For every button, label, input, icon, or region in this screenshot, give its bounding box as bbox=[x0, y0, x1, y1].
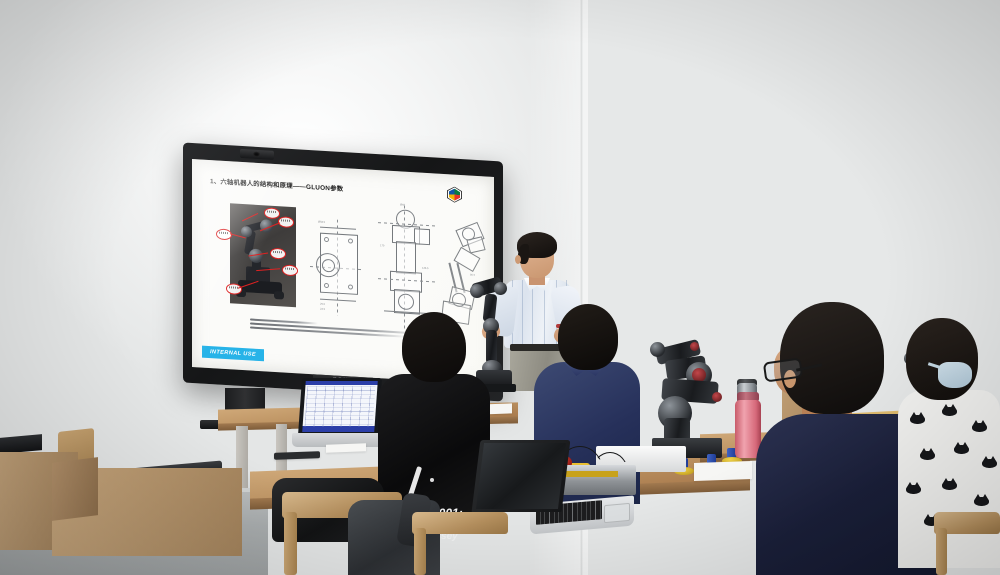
camera-module-icon bbox=[240, 149, 274, 160]
chair-wooden[interactable] bbox=[934, 512, 1000, 575]
cardboard-box-flap bbox=[52, 457, 98, 521]
slide-title: 1、六轴机器人的结构和原理——GLUON参数 bbox=[210, 176, 460, 200]
internal-use-badge: INTERNAL USE bbox=[202, 346, 264, 362]
slide-callout bbox=[264, 207, 280, 219]
slide-callout bbox=[226, 283, 242, 295]
company-hex-logo bbox=[447, 186, 462, 203]
attendee-head bbox=[558, 304, 618, 370]
slide-callout bbox=[270, 248, 286, 260]
classroom-scene: 1、六轴机器人的结构和原理——GLUON参数 bbox=[0, 0, 1000, 575]
laptop-back[interactable] bbox=[292, 378, 384, 452]
slide-callout bbox=[282, 264, 298, 276]
attendee-head bbox=[906, 318, 978, 400]
paper-handout bbox=[326, 443, 366, 452]
attendee-black-tshirt: 2001: A Space Odyssey bbox=[378, 312, 490, 512]
presenter-ear bbox=[515, 255, 521, 264]
cad-front-view: Ø58.5 25.0 24.5 bbox=[310, 218, 364, 317]
chair-wooden[interactable] bbox=[412, 512, 508, 575]
slide-callout bbox=[278, 216, 294, 228]
paper-handout bbox=[694, 461, 752, 481]
attendee-head bbox=[402, 312, 466, 382]
face-mask-icon bbox=[938, 362, 972, 388]
